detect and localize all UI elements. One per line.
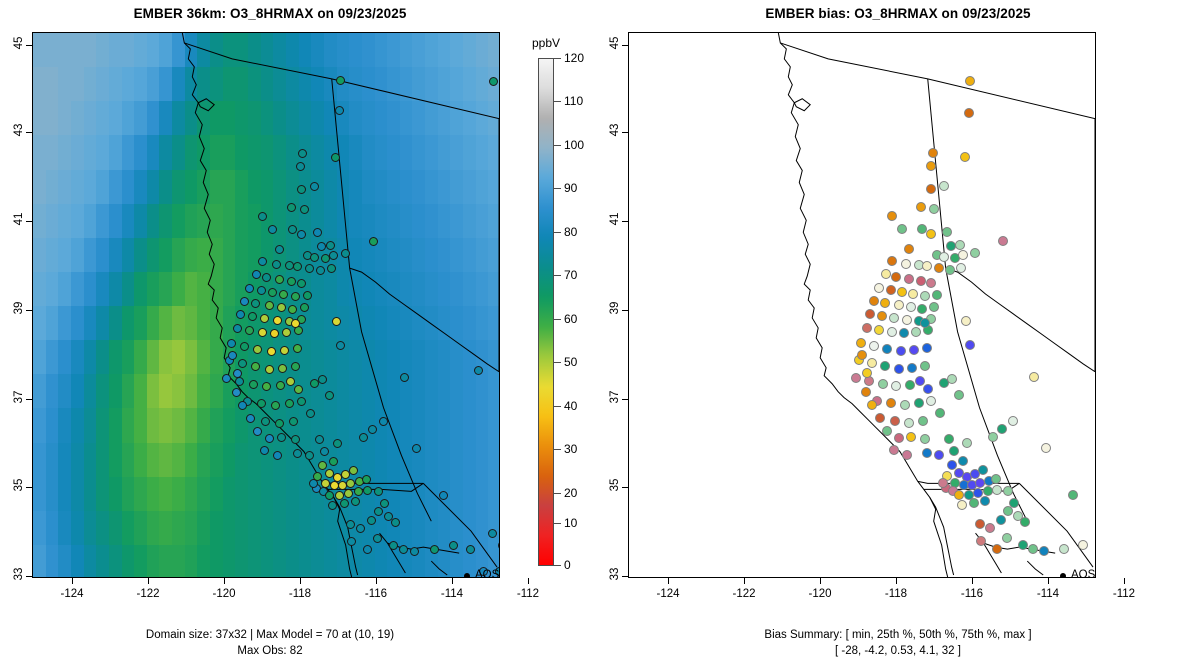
station-marker[interactable] [236,310,245,319]
station-marker[interactable] [265,301,274,310]
station-marker[interactable] [331,153,340,162]
station-marker[interactable] [336,341,345,350]
station-marker[interactable] [297,230,306,239]
station-marker[interactable] [248,312,257,321]
station-marker[interactable] [257,286,266,295]
station-marker[interactable] [327,264,336,273]
station-marker[interactable] [294,385,303,394]
station-marker[interactable] [882,344,892,354]
station-marker[interactable] [1068,490,1078,500]
station-marker[interactable] [306,409,315,418]
station-marker[interactable] [258,328,267,337]
station-marker[interactable] [260,314,269,323]
station-marker[interactable] [935,408,945,418]
y-axis-tick [26,487,32,488]
x-axis-label: -112 [1104,588,1144,600]
station-marker[interactable] [356,524,365,533]
station-marker[interactable] [245,326,254,335]
station-marker[interactable] [857,350,867,360]
station-marker[interactable] [362,475,371,484]
station-marker[interactable] [296,162,305,171]
station-marker[interactable] [310,182,319,191]
station-marker[interactable] [958,250,968,260]
station-marker[interactable] [297,279,306,288]
station-marker[interactable] [291,362,300,371]
station-marker[interactable] [880,298,890,308]
station-marker[interactable] [862,368,872,378]
station-marker[interactable] [439,491,448,500]
station-marker[interactable] [929,204,939,214]
model-panel-title: EMBER 36km: O3_8HRMAX on 09/23/2025 [0,6,540,21]
station-marker[interactable] [379,417,388,426]
station-marker[interactable] [325,491,334,500]
station-marker[interactable] [1002,533,1012,543]
station-marker[interactable] [980,496,990,506]
station-marker[interactable] [917,304,927,314]
station-marker[interactable] [300,205,309,214]
station-marker[interactable] [317,242,326,251]
station-marker[interactable] [891,381,901,391]
station-marker[interactable] [907,363,917,373]
station-marker[interactable] [318,461,327,470]
station-marker[interactable] [922,448,932,458]
station-marker[interactable] [886,398,896,408]
y-axis-tick [26,221,32,222]
station-marker[interactable] [389,541,398,550]
station-marker[interactable] [271,401,280,410]
station-marker[interactable] [891,272,901,282]
station-marker[interactable] [310,253,319,262]
station-marker[interactable] [1009,498,1019,508]
station-marker[interactable] [347,537,356,546]
station-marker[interactable] [286,377,295,386]
station-marker[interactable] [926,278,936,288]
station-marker[interactable] [918,416,928,426]
station-marker[interactable] [882,426,892,436]
station-marker[interactable] [374,507,383,516]
station-marker[interactable] [914,398,924,408]
station-marker[interactable] [285,399,294,408]
station-marker[interactable] [874,283,884,293]
station-marker[interactable] [277,433,286,442]
station-marker[interactable] [926,396,936,406]
station-marker[interactable] [380,499,389,508]
station-marker[interactable] [958,456,968,466]
station-marker[interactable] [498,541,501,550]
station-marker[interactable] [906,432,916,442]
station-marker[interactable] [399,545,408,554]
station-marker[interactable] [288,225,297,234]
station-marker[interactable] [969,498,979,508]
station-marker[interactable] [287,277,296,286]
y-axis-label: 45 [609,32,621,54]
station-marker[interactable] [368,425,377,434]
y-axis-label: 43 [609,119,621,141]
aqs-legend-dot [464,573,470,578]
station-marker[interactable] [275,275,284,284]
station-marker[interactable] [947,374,957,384]
model-station-markers[interactable] [33,33,499,577]
station-marker[interactable] [985,523,995,533]
station-marker[interactable] [235,377,244,386]
station-marker[interactable] [899,328,909,338]
station-marker[interactable] [878,379,888,389]
station-marker[interactable] [905,380,915,390]
station-marker[interactable] [886,285,896,295]
station-marker[interactable] [313,228,322,237]
station-marker[interactable] [897,287,907,297]
station-marker[interactable] [363,545,372,554]
station-marker[interactable] [865,309,875,319]
station-marker[interactable] [333,439,342,448]
station-marker[interactable] [889,313,899,323]
station-marker[interactable] [867,358,877,368]
station-marker[interactable] [894,364,904,374]
station-marker[interactable] [277,303,286,312]
station-marker[interactable] [1039,546,1049,556]
station-marker[interactable] [1095,544,1096,554]
colorbar-tick-label: 0 [564,558,571,572]
station-marker[interactable] [325,391,334,400]
station-marker[interactable] [305,264,314,273]
station-marker[interactable] [257,399,266,408]
station-marker[interactable] [922,343,932,353]
station-marker[interactable] [253,427,262,436]
station-marker[interactable] [249,380,258,389]
station-marker[interactable] [232,388,241,397]
colorbar-tick [554,362,561,363]
bias-plot-area[interactable]: AQS [628,32,1096,578]
station-marker[interactable] [901,259,911,269]
station-marker[interactable] [258,257,267,266]
model-caption-line1: Domain size: 37x32 | Max Model = 70 at (… [0,628,540,643]
station-marker[interactable] [998,236,1008,246]
station-marker[interactable] [965,76,975,86]
station-marker[interactable] [280,346,289,355]
station-marker[interactable] [261,417,270,426]
station-marker[interactable] [400,373,409,382]
station-marker[interactable] [965,340,975,350]
station-marker[interactable] [934,263,944,273]
station-marker[interactable] [949,446,959,456]
station-marker[interactable] [942,227,952,237]
station-marker[interactable] [279,290,288,299]
bias-caption-line2: [ -28, -4.2, 0.53, 4.1, 32 ] [628,644,1168,659]
station-marker[interactable] [992,485,1002,495]
station-marker[interactable] [961,316,971,326]
station-marker[interactable] [282,328,291,337]
station-marker[interactable] [309,479,318,488]
x-axis-tick [224,578,225,584]
station-marker[interactable] [894,433,904,443]
model-plot-area[interactable]: AQS [32,32,500,578]
station-marker[interactable] [298,149,307,158]
station-marker[interactable] [273,316,282,325]
station-marker[interactable] [293,344,302,353]
station-marker[interactable] [252,270,261,279]
station-marker[interactable] [329,251,338,260]
colorbar-tick-label: 10 [564,516,577,530]
station-marker[interactable] [410,547,419,556]
station-marker[interactable] [320,447,329,456]
y-axis-label: 35 [609,474,621,496]
station-marker[interactable] [329,457,338,466]
station-marker[interactable] [922,261,932,271]
station-marker[interactable] [920,318,930,328]
station-marker[interactable] [890,416,900,426]
station-marker[interactable] [926,184,936,194]
station-marker[interactable] [369,237,378,246]
station-marker[interactable] [430,545,439,554]
station-marker[interactable] [340,499,349,508]
station-marker[interactable] [474,366,483,375]
station-marker[interactable] [293,262,302,271]
station-marker[interactable] [228,351,237,360]
y-axis-tick [26,132,32,133]
station-marker[interactable] [881,269,891,279]
station-marker[interactable] [862,323,872,333]
station-marker[interactable] [293,449,302,458]
station-marker[interactable] [288,305,297,314]
station-marker[interactable] [335,106,344,115]
station-marker[interactable] [996,515,1006,525]
station-marker[interactable] [975,519,985,529]
station-marker[interactable] [300,303,309,312]
station-marker[interactable] [326,241,335,250]
station-marker[interactable] [318,375,327,384]
station-marker[interactable] [488,529,497,538]
station-marker[interactable] [874,325,884,335]
station-marker[interactable] [238,359,247,368]
station-marker[interactable] [251,362,260,371]
station-marker[interactable] [233,324,242,333]
station-marker[interactable] [336,76,345,85]
station-marker[interactable] [246,414,255,423]
station-marker[interactable] [978,465,988,475]
station-marker[interactable] [856,338,866,348]
aqs-legend-dot [1060,573,1066,578]
station-marker[interactable] [954,390,964,400]
station-marker[interactable] [278,364,287,373]
station-marker[interactable] [275,419,284,428]
station-marker[interactable] [887,327,897,337]
station-marker[interactable] [916,276,926,286]
station-marker[interactable] [851,373,861,383]
x-axis-tick [148,578,149,584]
station-marker[interactable] [258,212,267,221]
station-marker[interactable] [939,252,949,262]
x-axis-label: -122 [724,588,764,600]
station-marker[interactable] [359,433,368,442]
station-marker[interactable] [964,108,974,118]
x-axis-tick [300,578,301,584]
station-marker[interactable] [391,518,400,527]
y-axis-label: 41 [609,208,621,230]
station-marker[interactable] [929,302,939,312]
station-marker[interactable] [351,497,360,506]
station-marker[interactable] [227,339,236,348]
station-marker[interactable] [920,291,930,301]
station-marker[interactable] [303,291,312,300]
station-marker[interactable] [1003,486,1013,496]
station-marker[interactable] [1041,443,1051,453]
station-marker[interactable] [939,181,949,191]
station-marker[interactable] [341,249,350,258]
station-marker[interactable] [287,203,296,212]
station-marker[interactable] [374,487,383,496]
station-marker[interactable] [928,148,938,158]
station-marker[interactable] [265,365,274,374]
station-marker[interactable] [363,486,372,495]
station-marker[interactable] [920,361,930,371]
station-marker[interactable] [305,451,314,460]
station-marker[interactable] [976,536,986,546]
station-marker[interactable] [902,315,912,325]
station-marker[interactable] [240,342,249,351]
station-marker[interactable] [962,438,972,448]
station-marker[interactable] [1020,517,1030,527]
station-marker[interactable] [861,387,871,397]
station-marker[interactable] [960,152,970,162]
station-marker[interactable] [335,491,344,500]
station-marker[interactable] [926,161,936,171]
station-marker[interactable] [346,479,355,488]
station-marker[interactable] [938,478,948,488]
x-axis-label: -116 [356,588,396,600]
station-marker[interactable] [466,545,475,554]
station-marker[interactable] [270,329,279,338]
station-marker[interactable] [272,260,281,269]
station-marker[interactable] [346,520,355,529]
station-marker[interactable] [268,225,277,234]
station-marker[interactable] [916,202,926,212]
station-marker[interactable] [275,245,284,254]
station-marker[interactable] [894,300,904,310]
station-marker[interactable] [273,451,282,460]
station-marker[interactable] [955,240,965,250]
station-marker[interactable] [904,274,914,284]
station-marker[interactable] [887,211,897,221]
station-marker[interactable] [238,401,247,410]
station-marker[interactable] [926,229,936,239]
station-marker[interactable] [904,244,914,254]
station-marker[interactable] [253,345,262,354]
station-marker[interactable] [1059,544,1069,554]
station-marker[interactable] [373,534,382,543]
station-marker[interactable] [489,77,498,86]
station-marker[interactable] [880,361,890,371]
station-marker[interactable] [1018,540,1028,550]
station-marker[interactable] [869,341,879,351]
station-marker[interactable] [222,374,231,383]
station-marker[interactable] [904,418,914,428]
station-marker[interactable] [251,299,260,308]
x-axis-tick [528,578,529,584]
station-marker[interactable] [923,384,933,394]
station-marker[interactable] [1078,540,1088,550]
station-marker[interactable] [354,487,363,496]
station-marker[interactable] [902,450,912,460]
station-marker[interactable] [297,397,306,406]
station-marker[interactable] [289,417,298,426]
station-marker[interactable] [954,490,964,500]
station-marker[interactable] [260,446,269,455]
station-marker[interactable] [262,382,271,391]
station-marker[interactable] [889,445,899,455]
station-marker[interactable] [970,248,980,258]
y-axis-tick [622,310,628,311]
station-marker[interactable] [944,434,954,444]
station-marker[interactable] [908,289,918,299]
station-marker[interactable] [897,224,907,234]
station-marker[interactable] [245,284,254,293]
x-axis-tick [820,578,821,584]
station-marker[interactable] [449,541,458,550]
station-marker[interactable] [932,290,942,300]
station-marker[interactable] [262,273,271,282]
station-marker[interactable] [344,489,353,498]
station-marker[interactable] [934,450,944,460]
station-marker[interactable] [291,319,300,328]
colorbar-tick-label: 60 [564,312,577,326]
station-marker[interactable] [291,435,300,444]
station-marker[interactable] [332,317,341,326]
colorbar-tick [554,232,561,233]
station-marker[interactable] [412,444,421,453]
station-marker[interactable] [997,424,1007,434]
station-marker[interactable] [1008,416,1018,426]
station-marker[interactable] [988,432,998,442]
station-marker[interactable] [233,369,242,378]
colorbar-tick-label: 110 [564,94,583,108]
station-marker[interactable] [887,256,897,266]
station-marker[interactable] [367,516,376,525]
station-marker[interactable] [240,297,249,306]
station-marker[interactable] [315,435,324,444]
station-marker[interactable] [911,327,921,337]
station-marker[interactable] [992,544,1002,554]
station-marker[interactable] [957,500,967,510]
bias-station-markers[interactable] [629,33,1095,577]
x-axis-label: -122 [128,588,168,600]
station-marker[interactable] [328,501,337,510]
station-marker[interactable] [1028,544,1038,554]
station-marker[interactable] [349,466,358,475]
station-marker[interactable] [867,400,877,410]
station-marker[interactable] [316,266,325,275]
station-marker[interactable] [1029,372,1039,382]
station-marker[interactable] [906,302,916,312]
station-marker[interactable] [909,345,919,355]
station-marker[interactable] [956,263,966,273]
station-marker[interactable] [291,292,300,301]
station-marker[interactable] [869,296,879,306]
station-marker[interactable] [276,381,285,390]
station-marker[interactable] [991,474,1001,484]
station-marker[interactable] [297,185,306,194]
station-marker[interactable] [945,265,955,275]
colorbar-tick [554,188,561,189]
station-marker[interactable] [877,311,887,321]
station-marker[interactable] [265,434,274,443]
x-axis-tick [668,578,669,584]
station-marker[interactable] [900,400,910,410]
station-marker[interactable] [875,413,885,423]
station-marker[interactable] [267,347,276,356]
station-marker[interactable] [920,434,930,444]
station-marker[interactable] [896,346,906,356]
station-marker[interactable] [268,288,277,297]
